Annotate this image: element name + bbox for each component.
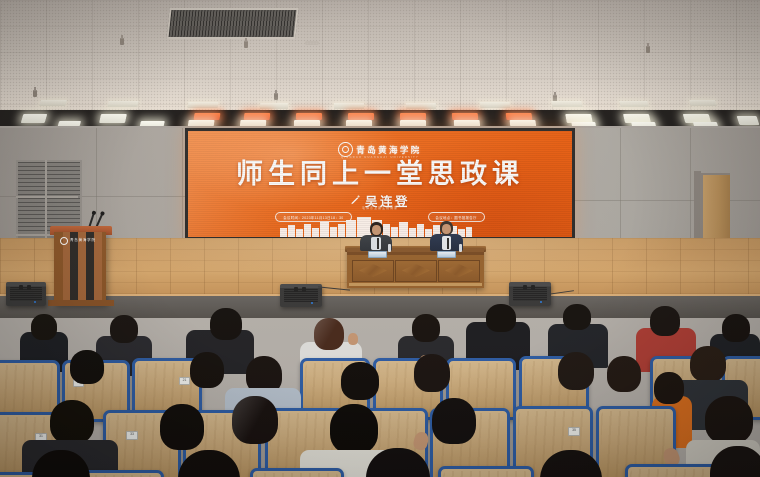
audience-head [330, 404, 378, 454]
audience-head [160, 404, 204, 450]
table-panel [352, 260, 394, 282]
audience-head [341, 362, 379, 400]
hair-highlight [232, 396, 278, 444]
ceiling-light [260, 103, 288, 109]
ceiling-light [689, 100, 717, 106]
sprinkler-head [33, 90, 37, 97]
audience-head [414, 354, 450, 392]
speaker-handle [294, 287, 298, 292]
speaker-handle [302, 287, 306, 292]
audience-head [705, 396, 753, 444]
podium-logo-text: 青岛黄海学院 [70, 238, 96, 243]
ceiling-light [21, 114, 48, 123]
audience-head [690, 346, 726, 382]
seat-number-tag: 33 [126, 431, 138, 440]
smoke-detector [305, 41, 319, 45]
speaker-grille [10, 287, 42, 300]
ceiling-light-orange [348, 113, 374, 120]
audience-area: 19 21 23 25 27 29 31 33 [0, 300, 760, 477]
speaker-handle [523, 285, 527, 290]
audience-head [110, 315, 138, 343]
sprinkler-head [120, 38, 124, 45]
ceiling-light [551, 101, 582, 107]
audience-head [563, 304, 591, 330]
audience-head [607, 356, 641, 392]
speaker-handle [19, 285, 23, 290]
table-panel [395, 260, 437, 282]
ceiling-light [619, 101, 648, 107]
audience-head [654, 372, 684, 404]
ceiling-light-orange [452, 113, 478, 120]
audience-head [31, 314, 57, 340]
audience-hand [348, 333, 358, 345]
audience-head [50, 400, 94, 444]
audience-head [650, 306, 680, 336]
auditorium-seat[interactable] [250, 468, 344, 477]
sprinkler-head [646, 46, 650, 53]
hair-highlight [314, 318, 344, 350]
water-bottle [388, 244, 391, 252]
sprinkler-head [274, 93, 278, 100]
water-bottle [459, 244, 462, 252]
audience-head [722, 314, 750, 342]
table-microphone [447, 238, 449, 249]
speaker-handle [531, 285, 535, 290]
ceiling-light-orange [506, 113, 533, 120]
ceiling-light [188, 102, 219, 108]
speaker-grille [513, 287, 547, 300]
podium-logo: 青岛黄海学院 [60, 237, 100, 244]
ceiling-light-orange [194, 113, 221, 120]
ceiling-light [39, 100, 67, 106]
ceiling-air-vent [166, 8, 298, 39]
audience-head [486, 304, 516, 332]
table-base-rail [349, 283, 482, 286]
ceiling-light [99, 114, 127, 123]
seat-number-tag: 21 [179, 377, 190, 385]
table-nameplate [437, 251, 456, 258]
ceiling-light [406, 103, 436, 109]
auditorium-seat[interactable] [438, 466, 534, 477]
wall-seam [566, 200, 760, 201]
podium-seal-icon [60, 237, 68, 245]
table-diamond-motif [402, 264, 430, 277]
ceiling-light [737, 116, 760, 125]
audience-head [432, 398, 476, 444]
audience-head [70, 350, 104, 384]
seat-number-tag: 35 [568, 427, 580, 436]
grille-mullion [16, 196, 78, 198]
table-nameplate [368, 251, 387, 258]
table-diamond-motif [445, 264, 473, 277]
auditorium-seat[interactable] [625, 464, 723, 477]
ceiling-light-orange [244, 113, 271, 120]
ceiling-light [480, 102, 511, 108]
audience-head [210, 308, 242, 340]
speaker-shirt [371, 237, 381, 250]
ceiling-light-orange [400, 113, 426, 120]
speaker-face [372, 225, 381, 235]
speaker-handle [27, 285, 31, 290]
table-diamond-motif [359, 264, 387, 277]
ceiling-light [334, 103, 364, 109]
ceiling-light-orange [296, 113, 322, 120]
table-microphone [377, 238, 379, 249]
sprinkler-head [244, 41, 248, 48]
auditorium-photo: 青岛黄海学院 QINGDAO HUANGHAI UNIVERSITY 师生同上一… [0, 0, 760, 477]
audience-head [190, 352, 224, 388]
audience-head [412, 314, 440, 342]
table-panel [438, 260, 480, 282]
audience-head [558, 352, 594, 390]
ceiling-light [107, 101, 138, 107]
speaker-face [442, 224, 451, 234]
